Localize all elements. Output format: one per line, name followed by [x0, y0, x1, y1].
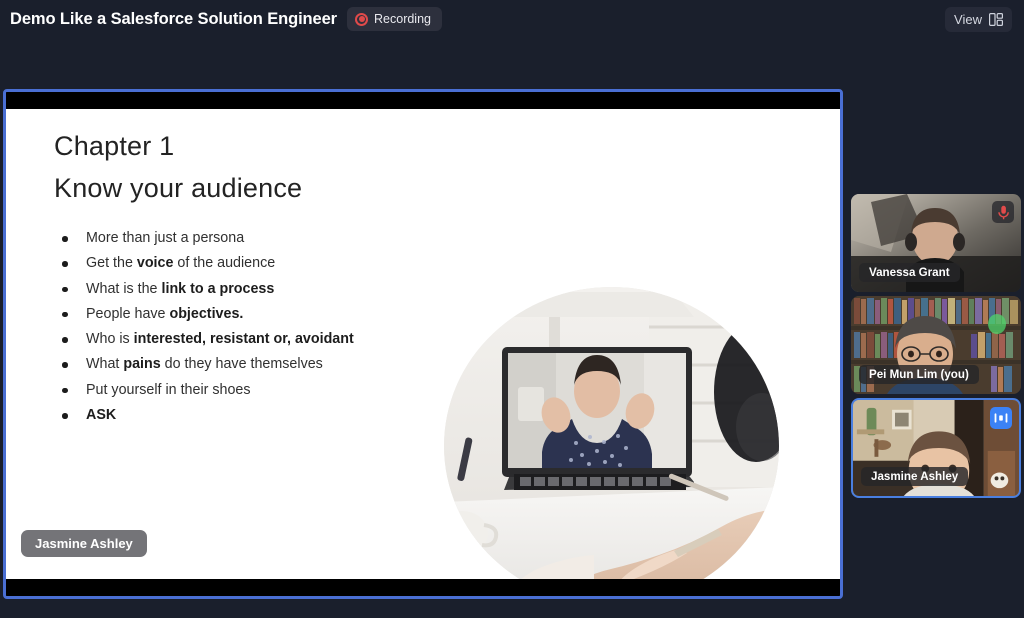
microphone-muted-icon: [992, 201, 1014, 223]
presenter-name-badge: Jasmine Ashley: [21, 530, 147, 557]
participant-name: Pei Mun Lim (you): [859, 365, 979, 384]
letterbox-bottom: [6, 579, 840, 596]
participant-tile[interactable]: Pei Mun Lim (you): [851, 296, 1021, 394]
shared-screen-frame[interactable]: Chapter 1 Know your audience More than j…: [3, 89, 843, 599]
record-dot-icon: [355, 13, 368, 26]
participant-tile[interactable]: Vanessa Grant: [851, 194, 1021, 292]
slide-bullet: People have objectives.: [54, 302, 434, 327]
recording-label: Recording: [374, 12, 431, 26]
screen-share-icon: [990, 407, 1012, 429]
slide-bullet: Who is interested, resistant or, avoidan…: [54, 327, 434, 352]
slide-bullet: What pains do they have themselves: [54, 352, 434, 377]
slide-subtitle: Know your audience: [54, 173, 434, 204]
participant-name: Jasmine Ashley: [861, 467, 968, 486]
slide-chapter-heading: Chapter 1: [54, 131, 434, 162]
slide-text-column: Chapter 1 Know your audience More than j…: [54, 131, 434, 428]
view-button[interactable]: View: [945, 7, 1012, 32]
participant-filmstrip: Vanessa Grant: [851, 194, 1021, 502]
slide-photo-circle: [444, 287, 779, 579]
slide-bullet: What is the link to a process: [54, 277, 434, 302]
meeting-title: Demo Like a Salesforce Solution Engineer: [10, 10, 337, 29]
view-button-label: View: [954, 12, 982, 27]
letterbox-top: [6, 92, 840, 109]
meeting-window: Demo Like a Salesforce Solution Engineer…: [0, 0, 1024, 618]
slide-bullet-list: More than just a persona Get the voice o…: [54, 226, 434, 428]
slide-bullet: ASK: [54, 403, 434, 428]
layout-grid-icon: [989, 13, 1003, 26]
top-bar: Demo Like a Salesforce Solution Engineer…: [0, 0, 1024, 38]
slide-bullet: Get the voice of the audience: [54, 251, 434, 276]
participant-tile[interactable]: Jasmine Ashley: [851, 398, 1021, 498]
presentation-slide: Chapter 1 Know your audience More than j…: [6, 109, 840, 579]
slide-bullet: More than just a persona: [54, 226, 434, 251]
slide-bullet: Put yourself in their shoes: [54, 378, 434, 403]
recording-badge: Recording: [347, 7, 442, 31]
participant-name: Vanessa Grant: [859, 263, 960, 282]
